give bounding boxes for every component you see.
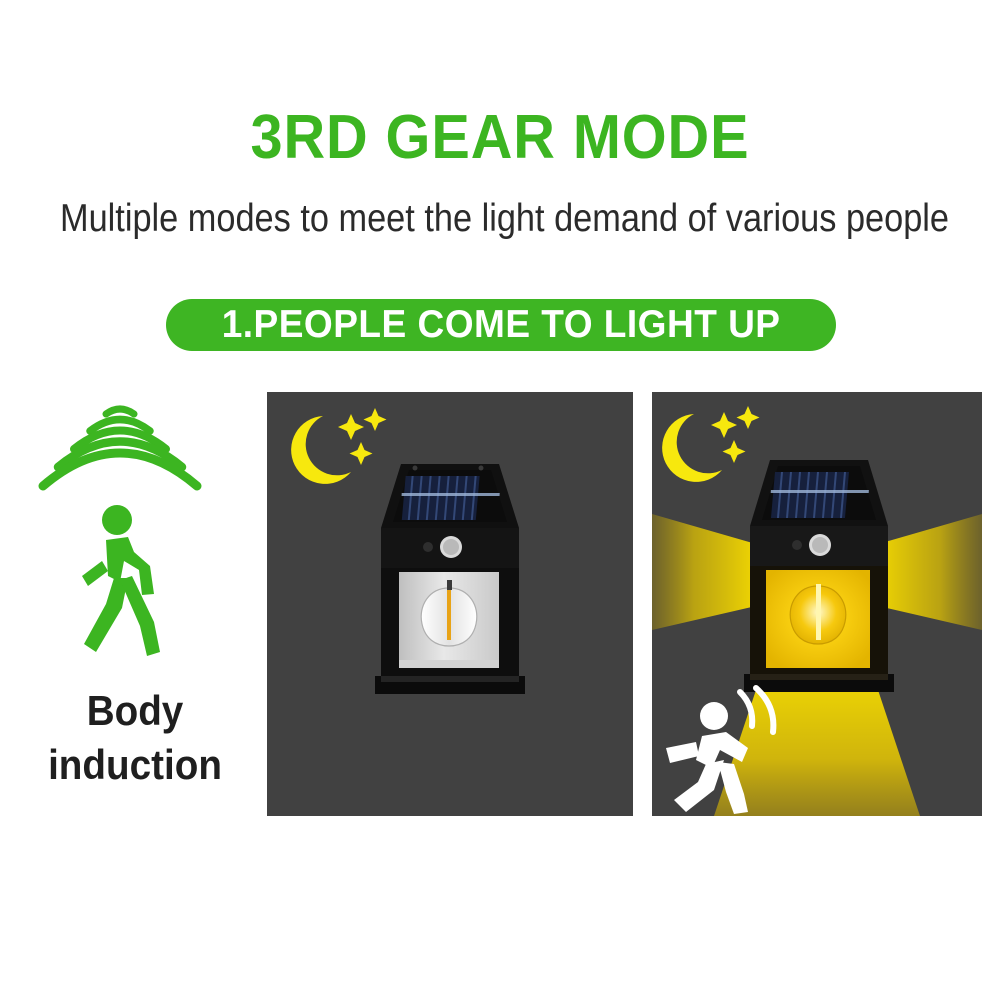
solar-wall-lamp-off — [375, 464, 525, 694]
filament-bulb-on — [790, 584, 846, 644]
panel-lamp-on — [652, 392, 982, 816]
body-induction-label-line2: induction — [33, 738, 237, 792]
page-subtitle: Multiple modes to meet the light demand … — [60, 198, 940, 241]
motion-waves-icon — [36, 398, 204, 496]
walking-person-icon — [62, 504, 182, 664]
solar-wall-lamp-on — [744, 460, 894, 692]
body-induction-label-line1: Body — [33, 684, 237, 738]
panel-lamp-off — [267, 392, 633, 816]
body-induction-label: Body induction — [33, 684, 237, 792]
page-title: 3RD GEAR MODE — [35, 107, 965, 169]
mode-badge-label: 1.PEOPLE COME TO LIGHT UP — [222, 303, 781, 347]
body-induction-feature: Body induction — [24, 398, 246, 798]
mode-badge: 1.PEOPLE COME TO LIGHT UP — [166, 299, 836, 351]
